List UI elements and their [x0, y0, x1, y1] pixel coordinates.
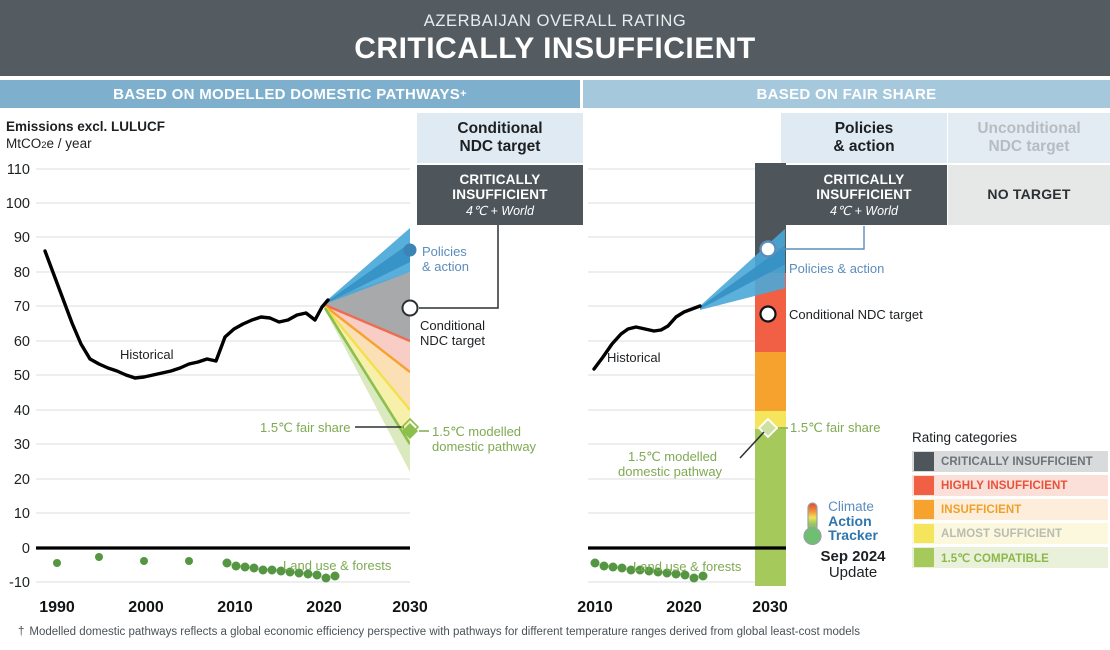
svg-text:10: 10: [14, 506, 30, 522]
svg-text:20: 20: [14, 472, 30, 488]
rating-bar-segment-insufficient: [755, 352, 786, 411]
left-land-use-label: Land use & forests: [283, 558, 392, 573]
left-conditional-ndc-label-line1: Conditional: [420, 318, 485, 333]
right-conditional-ndc-marker: [761, 307, 776, 322]
svg-text:60: 60: [14, 334, 30, 350]
legend-label: CRITICALLY INSUFFICIENT: [941, 456, 1093, 468]
legend-swatch: [914, 500, 934, 519]
svg-text:-10: -10: [9, 575, 30, 591]
left-historical-label: Historical: [120, 347, 174, 362]
legend-item-highly-insufficient: HIGHLY INSUFFICIENT: [912, 475, 1108, 496]
brand-line-tracker: Tracker: [828, 528, 878, 542]
update-date: Sep 2024: [800, 548, 906, 565]
left-policies-action-label-line2: & action: [422, 259, 469, 274]
fair-share-rating-bar: [755, 163, 786, 586]
legend-swatch: [914, 476, 934, 495]
legend-title: Rating categories: [912, 430, 1108, 445]
legend-swatch: [914, 452, 934, 471]
legend-label: INSUFFICIENT: [941, 504, 1021, 516]
footnote-text: Modelled domestic pathways reflects a gl…: [29, 626, 860, 638]
svg-text:30: 30: [14, 437, 30, 453]
update-label: Update: [800, 565, 906, 582]
left-policies-action-label-line1: Policies: [422, 244, 467, 259]
legend-item-almost-sufficient: ALMOST SUFFICIENT: [912, 523, 1108, 544]
thermometer-icon: [800, 500, 826, 548]
right-1.5c-fair-share-label: 1.5℃ fair share: [790, 420, 880, 435]
brand-line-climate: Climate: [828, 500, 878, 514]
footnote: †Modelled domestic pathways reflects a g…: [18, 626, 860, 638]
left-policies-action-marker: [404, 244, 417, 257]
svg-text:90: 90: [14, 230, 30, 246]
right-historical-label: Historical: [607, 350, 661, 365]
svg-text:2000: 2000: [128, 599, 164, 616]
svg-text:1990: 1990: [39, 599, 75, 616]
svg-text:70: 70: [14, 299, 30, 315]
footnote-dagger-icon: †: [18, 626, 24, 638]
svg-text:110: 110: [7, 162, 30, 178]
left-x-axis-tick-labels: 1990 2000 2010 2020 2030: [39, 599, 428, 616]
brand-line-action: Action: [828, 514, 878, 528]
legend-label: ALMOST SUFFICIENT: [941, 528, 1062, 540]
svg-text:2020: 2020: [306, 599, 342, 616]
right-1.5c-modelled-label-line2: domestic pathway: [618, 464, 723, 479]
legend-item-1.5c-compatible: 1.5℃ COMPATIBLE: [912, 547, 1108, 568]
svg-text:2030: 2030: [752, 599, 788, 616]
svg-text:0: 0: [22, 541, 30, 557]
right-policies-action-label: Policies & action: [789, 261, 884, 276]
legend-swatch: [914, 524, 934, 543]
svg-text:2020: 2020: [666, 599, 702, 616]
rating-bar-segment-1.5c-compatible: [755, 429, 786, 586]
left-historical-line: [45, 251, 328, 378]
svg-text:100: 100: [6, 196, 30, 212]
left-projection-bands: [325, 228, 410, 472]
climate-action-tracker-logo: Climate Action Tracker Sep 2024 Update: [800, 500, 906, 581]
svg-text:40: 40: [14, 403, 30, 419]
right-conditional-ndc-label: Conditional NDC target: [789, 307, 923, 322]
infographic-root: AZERBAIJAN OVERALL RATING CRITICALLY INS…: [0, 0, 1110, 650]
left-conditional-ndc-label-line2: NDC target: [420, 333, 485, 348]
y-axis-tick-labels: 110 100 90 80 70 60 50 40 30 20 10 0 -10: [6, 162, 30, 591]
left-panel-gridlines: [36, 169, 410, 582]
svg-text:2010: 2010: [577, 599, 613, 616]
right-1.5c-modelled-label-line1: 1.5℃ modelled: [628, 449, 717, 464]
legend-label: HIGHLY INSUFFICIENT: [941, 480, 1068, 492]
legend-swatch: [914, 548, 934, 567]
right-policies-action-leader: [778, 226, 864, 249]
svg-text:2030: 2030: [392, 599, 428, 616]
right-policies-action-marker: [761, 242, 776, 257]
left-1.5c-modelled-label-line2: domestic pathway: [432, 439, 537, 454]
svg-text:80: 80: [14, 265, 30, 281]
legend-item-critically-insufficient: CRITICALLY INSUFFICIENT: [912, 451, 1108, 472]
svg-text:2010: 2010: [217, 599, 253, 616]
left-1.5c-modelled-label-line1: 1.5℃ modelled: [432, 424, 521, 439]
svg-text:50: 50: [14, 368, 30, 384]
legend-label: 1.5℃ COMPATIBLE: [941, 551, 1049, 565]
left-conditional-ndc-marker: [403, 301, 418, 316]
legend-item-insufficient: INSUFFICIENT: [912, 499, 1108, 520]
rating-categories-legend: Rating categories CRITICALLY INSUFFICIEN…: [912, 430, 1108, 571]
left-1.5c-fair-share-label: 1.5℃ fair share: [260, 420, 350, 435]
right-land-use-label: Land use & forests: [633, 559, 742, 574]
right-x-axis-tick-labels: 2010 2020 2030: [577, 599, 788, 616]
